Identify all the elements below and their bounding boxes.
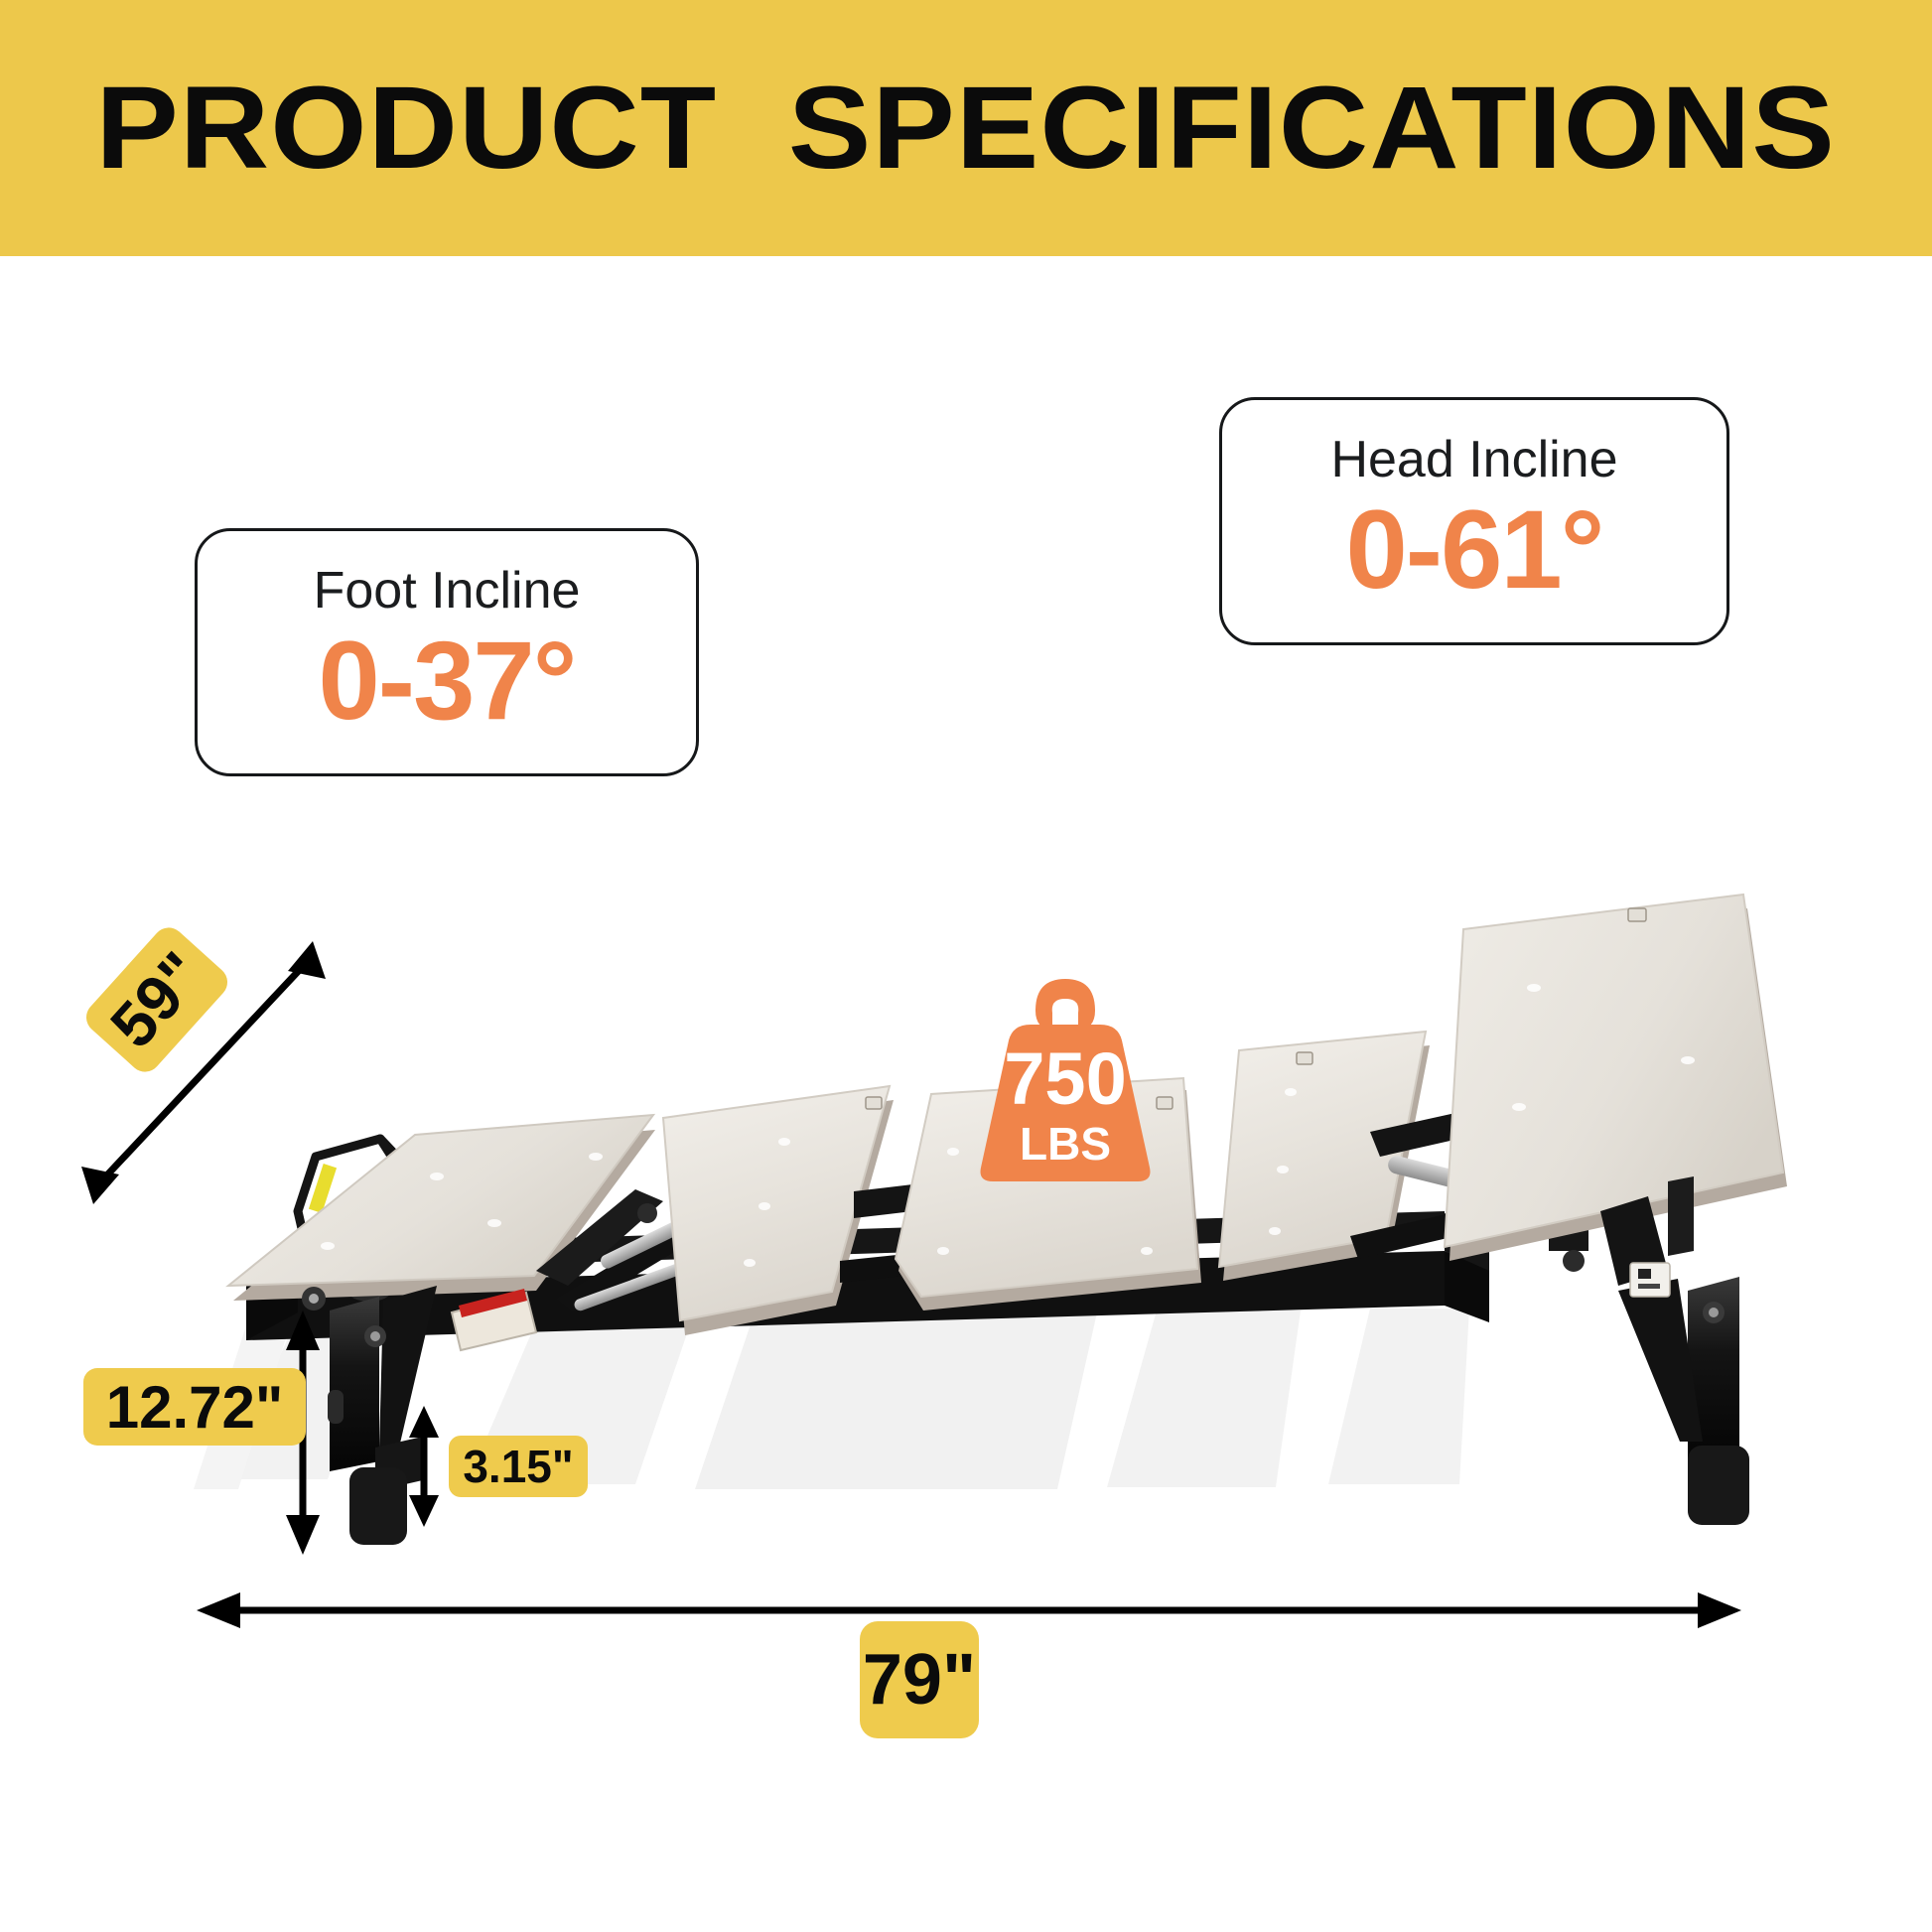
weight-badge-value: 750	[1004, 1037, 1126, 1120]
spec-card-foot-incline: Foot Incline 0-37°	[195, 528, 699, 776]
dimension-label-length: 79"	[860, 1621, 979, 1738]
page-title: PRODUCT SPECIFICATIONS	[96, 69, 1836, 187]
header-banner: PRODUCT SPECIFICATIONS	[0, 0, 1932, 256]
frame-sticker	[1630, 1263, 1670, 1297]
dimension-label-height: 12.72"	[83, 1368, 306, 1446]
spec-label-foot-incline: Foot Incline	[314, 565, 581, 617]
weight-capacity-badge: 750 LBS	[951, 969, 1179, 1187]
leg-right	[1618, 1263, 1749, 1525]
spec-label-head-incline: Head Incline	[1330, 434, 1617, 485]
panel-head-upper	[1445, 895, 1787, 1261]
weight-badge-unit: LBS	[1020, 1118, 1111, 1170]
dimension-label-clearance: 3.15"	[449, 1436, 588, 1497]
spec-value-foot-incline: 0-37°	[319, 622, 576, 740]
clearance-dimension-arrow	[403, 1404, 445, 1529]
foot-base-bracket	[302, 1287, 326, 1311]
spec-value-head-incline: 0-61°	[1346, 491, 1603, 609]
spec-card-head-incline: Head Incline 0-61°	[1219, 397, 1729, 645]
